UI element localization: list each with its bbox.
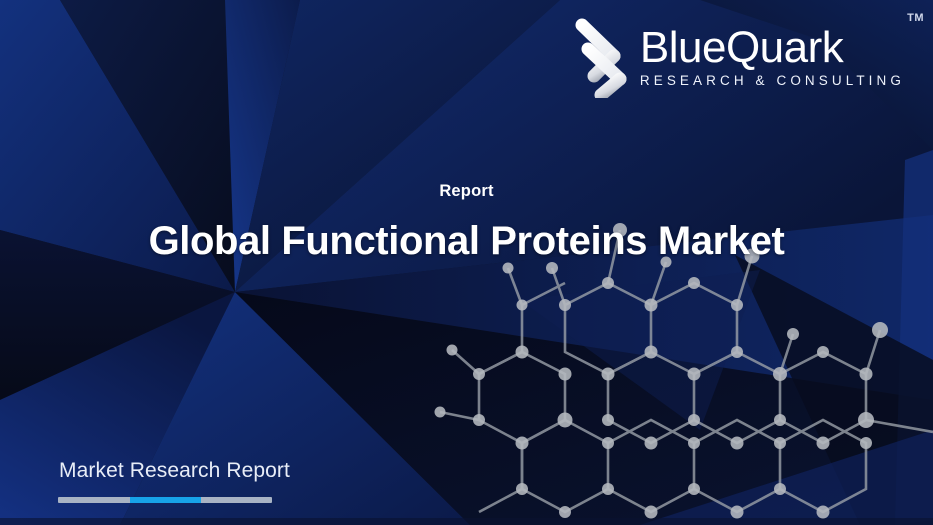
brand-logo[interactable]: BlueQuark RESEARCH & CONSULTING (574, 14, 905, 98)
footer-label: Market Research Report (59, 459, 290, 483)
accent-segment-left (58, 497, 130, 503)
accent-bar (58, 497, 272, 503)
double-chevron-logo-mark-icon (574, 16, 630, 98)
brand-wordmark-blue: Blue (640, 23, 726, 72)
accent-segment-right (201, 497, 272, 503)
trademark-symbol: TM (907, 12, 924, 24)
brand-tagline: RESEARCH & CONSULTING (640, 74, 905, 88)
footer-block: Market Research Report (58, 459, 290, 503)
brand-wordmark: BlueQuark (640, 26, 905, 70)
cover-title-block: Report Global Functional Proteins Market (0, 182, 933, 264)
brand-wordmark-quark: Quark (726, 23, 843, 72)
page-title: Global Functional Proteins Market (0, 219, 933, 264)
accent-segment-middle (130, 497, 201, 503)
report-kicker-label: Report (0, 182, 933, 201)
report-cover-page: BlueQuark RESEARCH & CONSULTING TM Repor… (0, 0, 933, 525)
